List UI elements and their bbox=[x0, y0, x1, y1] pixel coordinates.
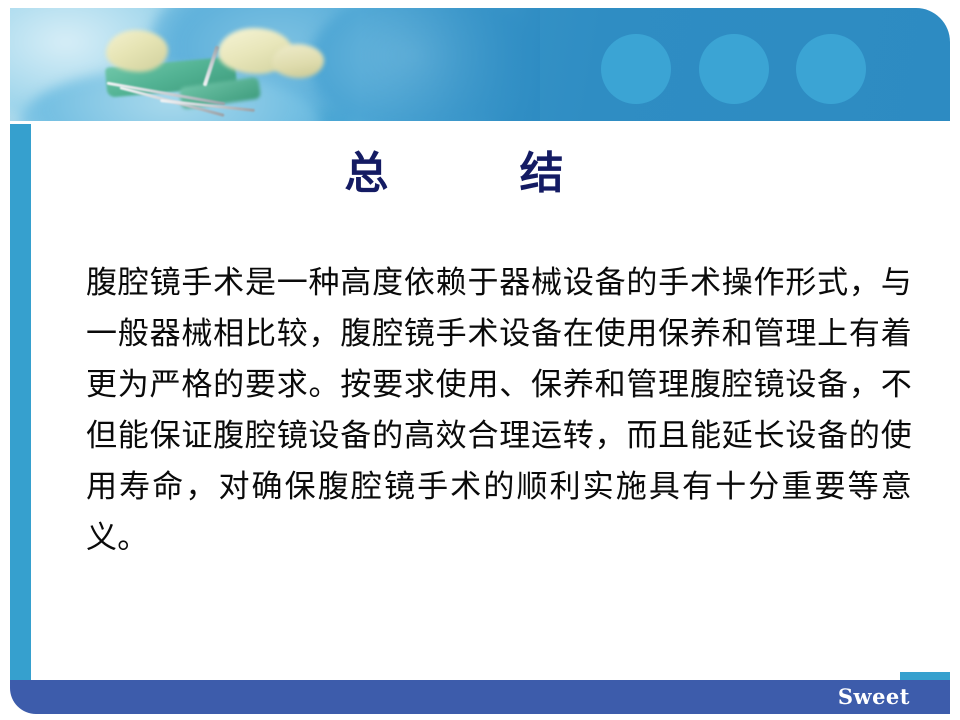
decorative-circle-1 bbox=[601, 34, 671, 104]
gloved-hand-shape bbox=[106, 30, 168, 72]
decorative-circle-2 bbox=[699, 34, 769, 104]
surgical-operation-photo bbox=[10, 8, 540, 121]
slide-title: 总 结 bbox=[31, 152, 891, 196]
left-accent-bar bbox=[10, 124, 31, 680]
presentation-slide: 总 结 腹腔镜手术是一种高度依赖于器械设备的手术操作形式，与一般器械相比较，腹腔… bbox=[0, 0, 960, 720]
slide-footer-bar: Sweet bbox=[10, 680, 950, 714]
decorative-circle-3 bbox=[796, 34, 866, 104]
gloved-hand-shape bbox=[272, 44, 324, 78]
slide-body-text: 腹腔镜手术是一种高度依赖于器械设备的手术操作形式，与一般器械相比较，腹腔镜手术设… bbox=[86, 258, 912, 564]
footer-label: Sweet bbox=[838, 684, 910, 709]
slide-header-band bbox=[10, 8, 950, 121]
slide-content-panel: 总 结 腹腔镜手术是一种高度依赖于器械设备的手术操作形式，与一般器械相比较，腹腔… bbox=[31, 124, 950, 680]
photo-fade-overlay bbox=[360, 8, 540, 121]
